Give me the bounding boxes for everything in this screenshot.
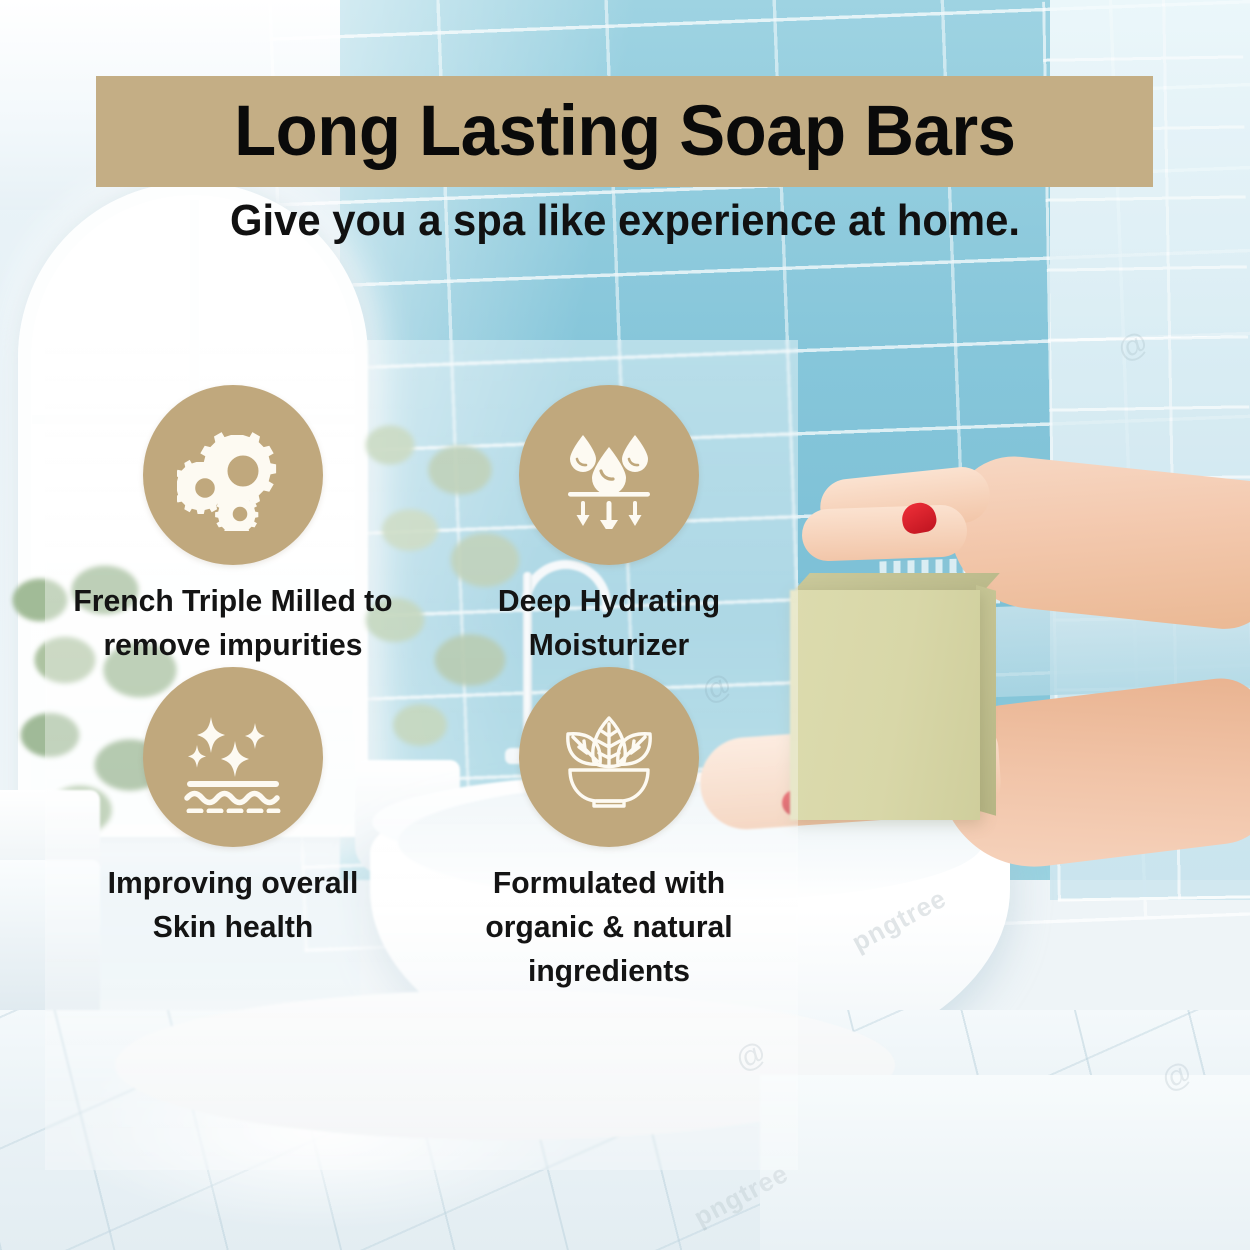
infographic-canvas: Long Lasting Soap Bars Give you a spa li…: [0, 0, 1250, 1250]
feature-french-triple-milled[interactable]: French Triple Milled to remove impuritie…: [45, 385, 421, 667]
feature-label: Improving overall Skin health: [73, 861, 393, 949]
soap-bar-front-face: [790, 590, 980, 820]
upper-finger-middle: [801, 504, 968, 562]
feature-label: French Triple Milled to remove impuritie…: [73, 579, 393, 667]
page-title: Long Lasting Soap Bars: [234, 96, 1015, 167]
feature-label: Deep Hydrating Moisturizer: [449, 579, 769, 667]
feature-row-2: Improving overall Skin health: [45, 667, 798, 993]
counter-surface: [760, 1075, 1250, 1250]
gears-icon: [143, 385, 323, 565]
leaves-bowl-icon: [519, 667, 699, 847]
feature-organic-natural[interactable]: Formulated with organic & natural ingred…: [421, 667, 797, 993]
feature-grid: French Triple Milled to remove impuritie…: [45, 385, 798, 993]
title-banner: Long Lasting Soap Bars: [96, 76, 1153, 187]
feature-label: Formulated with organic & natural ingred…: [449, 861, 769, 993]
water-droplets-absorb-icon: [519, 385, 699, 565]
page-subtitle: Give you a spa like experience at home.: [31, 196, 1219, 246]
feature-skin-health[interactable]: Improving overall Skin health: [45, 667, 421, 993]
feature-row-1: French Triple Milled to remove impuritie…: [45, 385, 798, 667]
sparkle-skin-layers-icon: [143, 667, 323, 847]
feature-deep-hydrating[interactable]: Deep Hydrating Moisturizer: [421, 385, 797, 667]
